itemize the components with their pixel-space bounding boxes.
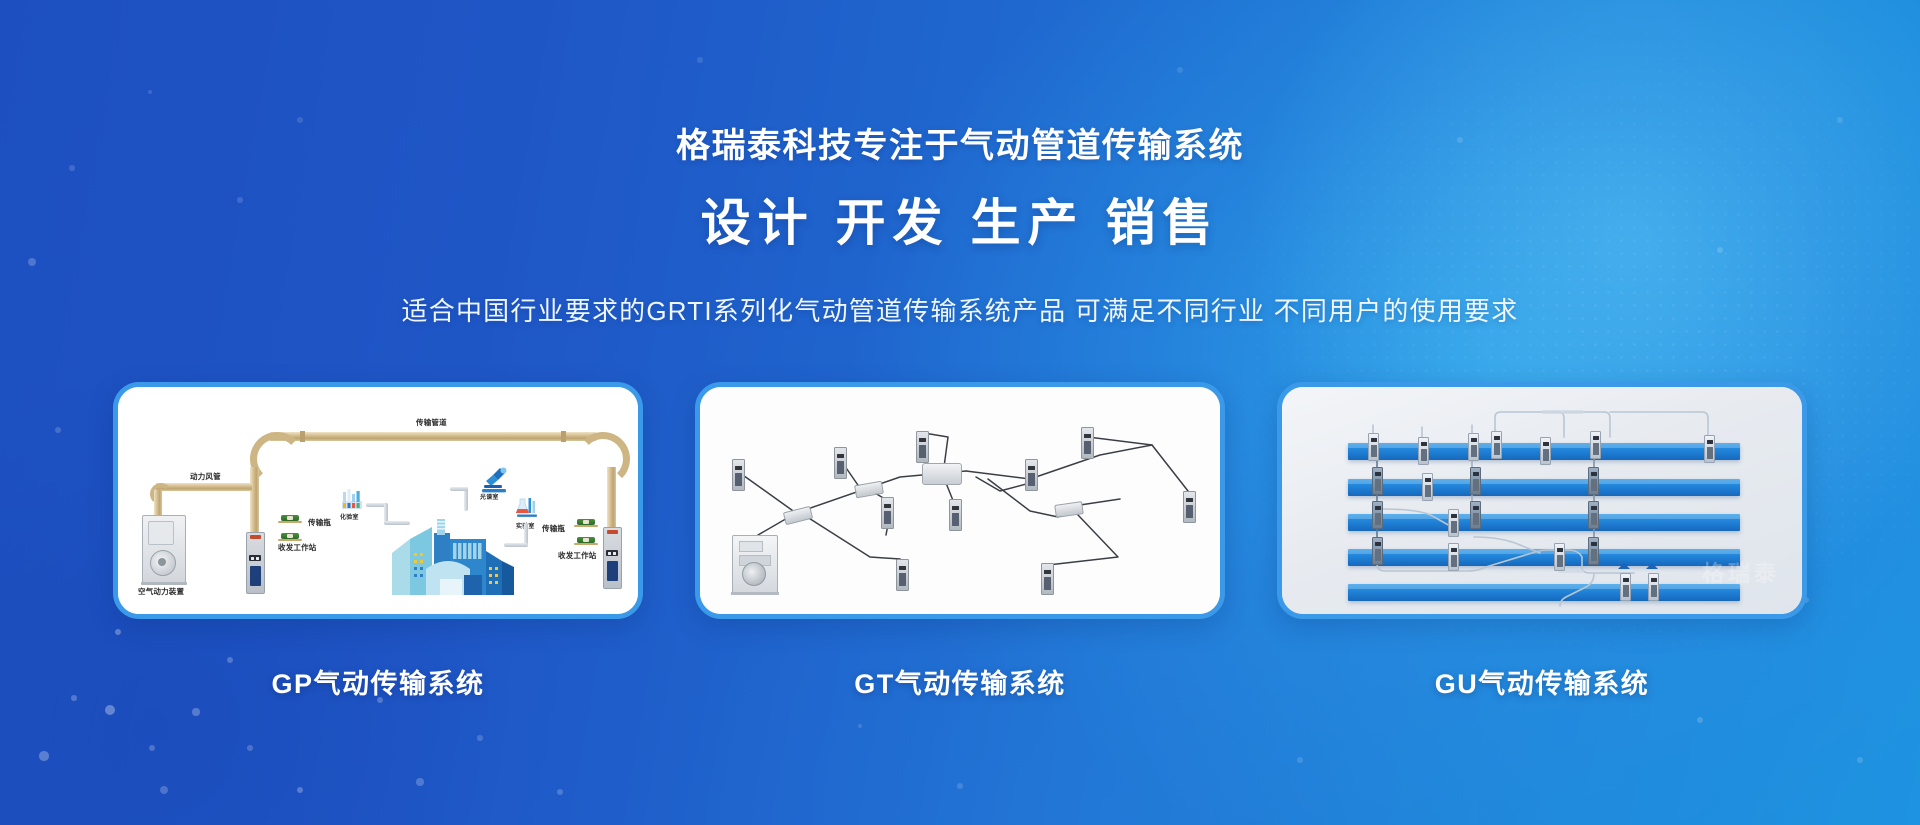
label-carrier-left: 传输瓶 [308,517,331,528]
gt-central-hub [922,463,962,485]
pipe-elbow-right [576,432,630,486]
carrier-bottle [574,537,598,545]
station-cap [607,530,618,534]
gu-diagram-card[interactable]: 格瑞泰 [1277,382,1807,619]
page-subheadline: 设计 开发 生产 销售 [0,183,1920,255]
blower-tank [148,521,174,545]
gp-diagram: 空气动力装置 传输瓶 [118,387,638,614]
decor-dot [416,778,423,785]
decor-dot [297,787,304,794]
station-right [603,527,622,589]
label-station-left: 收发工作站 [278,542,317,553]
decor-dot [105,705,115,715]
gp-diagram-card[interactable]: 空气动力装置 传输瓶 [113,382,643,619]
decor-dot [1697,717,1703,723]
carrier-bottle [574,519,598,527]
carrier-bottle [278,533,302,541]
gt-station [834,447,847,479]
decor-dot [160,786,168,794]
label-spectro-room: 光谱室 [480,492,499,501]
page-headline: 格瑞泰科技专注于气动管道传输系统 [0,118,1920,167]
gt-station [1025,459,1038,491]
gu-card-caption: GU气动传输系统 [1435,662,1650,701]
factory-illustration [388,509,518,599]
transport-pipe-top [270,432,596,441]
station-left [246,532,265,594]
station-screen [249,555,261,561]
label-power-duct: 动力风管 [190,471,221,482]
decor-dot [28,258,36,266]
hero-banner: 格瑞泰科技专注于气动管道传输系统 设计 开发 生产 销售 适合中国行业要求的GR… [0,0,1920,825]
decor-dot [697,57,702,62]
station-cap [250,535,261,539]
connector-pipe [450,487,468,491]
station-screen [606,550,618,556]
gu-watermark: 格瑞泰 [1702,556,1780,588]
label-air-power-unit: 空气动力装置 [138,586,184,597]
station-window [250,566,261,586]
decor-dot [1857,757,1862,762]
gp-card-caption: GP气动传输系统 [271,662,484,701]
air-power-unit [142,515,186,583]
label-chem-lab: 化验室 [340,512,359,521]
transport-pipe-left-drop [250,467,259,535]
label-station-right: 收发工作站 [558,550,597,561]
gt-station [1183,491,1196,523]
gt-station [896,559,909,591]
label-carrier-right: 传输瓶 [542,523,565,534]
label-transport-pipe: 传输管道 [416,417,447,428]
product-card-gu[interactable]: 格瑞泰 GU气动传输系统 [1277,382,1807,701]
power-duct-drop [154,490,162,517]
gt-station [732,459,745,491]
gt-station [881,497,894,529]
gt-station [916,431,929,463]
gt-diagram-card[interactable] [695,382,1225,619]
pipe-collar [561,431,566,442]
lab-room-icon [516,497,536,519]
decor-dot [149,745,155,751]
decor-dot [957,783,963,789]
decor-dot [557,789,563,795]
product-card-gp[interactable]: 空气动力装置 传输瓶 [113,382,643,701]
gt-station [949,499,962,531]
gt-air-power-unit [732,535,778,593]
decor-dot [1297,757,1303,763]
pipe-collar [300,431,305,442]
gt-station [1041,563,1054,595]
blower-base [141,582,187,585]
decor-dot [247,745,253,751]
decor-dot [1177,67,1183,73]
product-card-gt[interactable]: GT气动传输系统 [695,382,1225,701]
gt-diagram [700,387,1220,614]
page-tagline: 适合中国行业要求的GRTI系列化气动管道传输系统产品 可满足不同行业 不同用户的… [0,291,1920,328]
product-card-row: 空气动力装置 传输瓶 [0,382,1920,701]
gt-card-caption: GT气动传输系统 [854,662,1066,701]
spectro-room-icon [478,465,512,495]
decor-dot [148,90,153,95]
decor-dot [192,708,199,715]
chem-lab-icon [340,487,366,513]
station-window [607,561,618,581]
decor-dot [39,751,48,760]
carrier-bottle [278,515,302,523]
blower-fan [150,550,176,576]
gt-station [1081,427,1094,459]
transport-pipe-right-drop [607,467,616,529]
decor-dot [477,735,482,740]
decor-dot [858,724,863,729]
gu-diagram: 格瑞泰 [1282,387,1802,614]
